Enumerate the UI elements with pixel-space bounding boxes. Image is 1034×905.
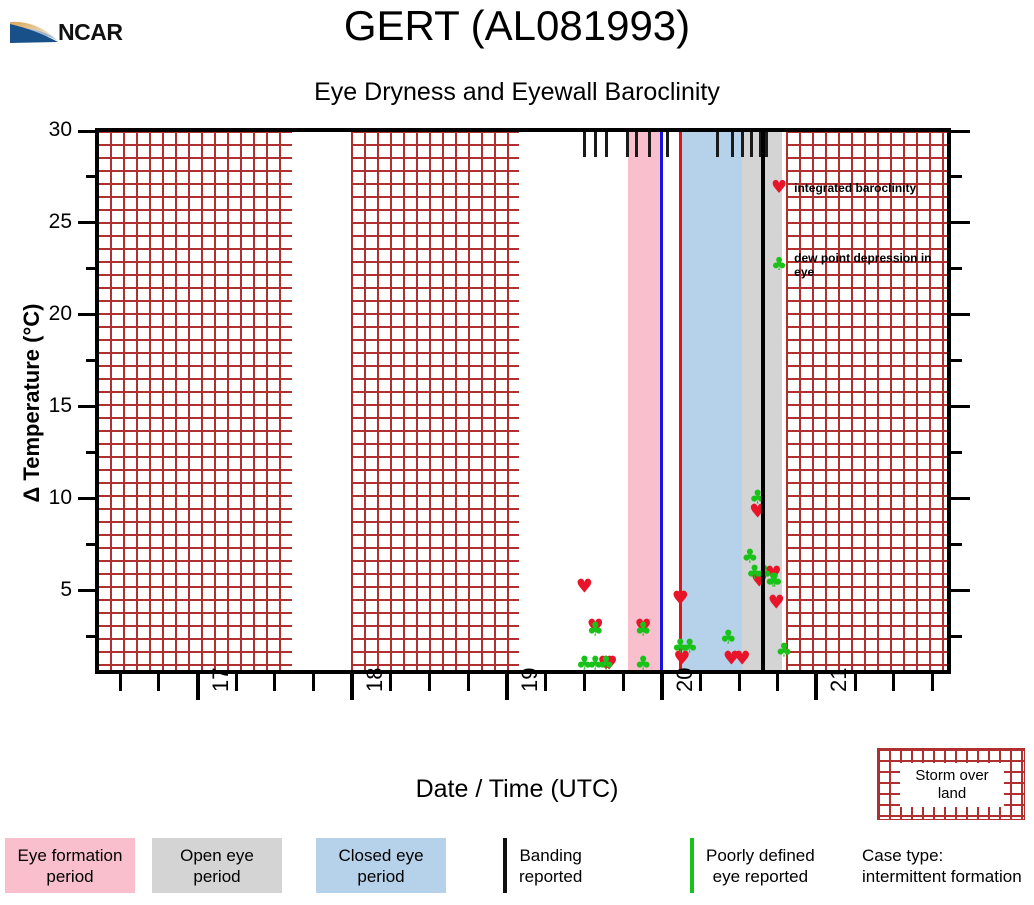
x-tick-label: 17 xyxy=(208,668,234,692)
y-tick-major xyxy=(78,497,97,500)
legend-swatch-line2: period xyxy=(357,866,404,887)
page-subtitle: Eye Dryness and Eyewall Baroclinity xyxy=(0,78,1034,107)
legend-black-line xyxy=(503,838,507,893)
legend-line-label1: Poorly defined xyxy=(706,845,815,866)
y-tick-minor xyxy=(86,451,97,454)
x-tick-minor xyxy=(235,674,238,691)
club-icon: ♣ xyxy=(635,654,652,670)
y-tick-right-major xyxy=(951,497,970,500)
x-tick-label: 21 xyxy=(826,668,852,692)
x-tick-label: 19 xyxy=(517,668,543,692)
x-tick-major xyxy=(505,674,509,700)
x-tick-major xyxy=(196,674,200,700)
y-tick-minor xyxy=(86,175,97,178)
x-tick-minor xyxy=(622,674,625,691)
x-tick-minor xyxy=(467,674,470,691)
case-type-line2: intermittent formation xyxy=(862,866,1022,887)
period-band xyxy=(628,131,662,670)
banding-tick xyxy=(583,131,586,157)
chart-legend: ♥integrated baroclinity♣dew point depres… xyxy=(765,131,948,670)
legend-item: ♣dew point depression in eye xyxy=(771,251,948,279)
y-tick-right-major xyxy=(951,589,970,592)
banding-tick xyxy=(626,131,629,157)
storm-over-land-key: Storm over land xyxy=(877,748,1025,820)
y-tick-major xyxy=(78,589,97,592)
x-tick-minor xyxy=(389,674,392,691)
banding-tick xyxy=(741,131,744,157)
y-tick-minor xyxy=(86,635,97,638)
heart-icon: ♥ xyxy=(576,578,593,597)
x-tick-minor xyxy=(428,674,431,691)
legend-swatch: Open eyeperiod xyxy=(152,838,282,893)
y-tick-right-major xyxy=(951,221,970,224)
legend-swatch-line2: period xyxy=(46,866,93,887)
legend-item-label: integrated baroclinity xyxy=(794,181,916,195)
club-icon: ♣ xyxy=(681,638,698,657)
legend-green-line xyxy=(690,838,694,893)
event-line xyxy=(660,131,663,670)
x-tick-minor xyxy=(931,674,934,691)
x-tick-minor xyxy=(583,674,586,691)
case-type-line1: Case type: xyxy=(862,845,1022,866)
x-tick-minor xyxy=(544,674,547,691)
legend-line-label1: Banding xyxy=(519,845,581,866)
legend-line-label2: eye reported xyxy=(713,866,808,887)
x-tick-label: 18 xyxy=(362,668,388,692)
y-tick-right-major xyxy=(951,313,970,316)
x-tick-minor xyxy=(776,674,779,691)
banding-tick xyxy=(635,131,638,157)
y-axis-title: Δ Temperature (°C) xyxy=(19,123,45,683)
legend-line-label: Poorly definedeye reported xyxy=(706,838,815,893)
legend-line-label2: reported xyxy=(519,866,582,887)
x-tick-minor xyxy=(273,674,276,691)
x-tick-major xyxy=(814,674,818,700)
y-tick-right-minor xyxy=(951,635,962,638)
bottom-legend: Eye formationperiodOpen eyeperiodClosed … xyxy=(0,838,1034,898)
banding-tick xyxy=(716,131,719,157)
legend-swatch: Closed eyeperiod xyxy=(316,838,446,893)
x-tick-minor xyxy=(119,674,122,691)
case-type-label: Case type:intermittent formation xyxy=(862,838,1022,893)
storm-over-land-region xyxy=(97,131,292,670)
y-tick-right-minor xyxy=(951,543,962,546)
storm-over-land-region xyxy=(351,131,520,670)
legend-line-label: Bandingreported xyxy=(519,838,582,893)
y-tick-major xyxy=(78,405,97,408)
legend-swatch-line2: period xyxy=(193,866,240,887)
legend-swatch-line1: Eye formation xyxy=(18,845,123,866)
y-tick-minor xyxy=(86,359,97,362)
x-tick-minor xyxy=(699,674,702,691)
period-band xyxy=(680,131,742,670)
x-tick-minor xyxy=(854,674,857,691)
heart-icon: ♥ xyxy=(672,590,689,609)
x-tick-label: 20 xyxy=(672,668,698,692)
heart-icon: ♥ xyxy=(734,649,751,668)
banding-tick xyxy=(648,131,651,157)
y-tick-right-minor xyxy=(951,267,962,270)
x-tick-major xyxy=(350,674,354,700)
storm-over-land-key-label: Storm over land xyxy=(900,763,1004,807)
y-tick-minor xyxy=(86,267,97,270)
y-tick-major xyxy=(78,130,97,133)
legend-item-label: dew point depression in eye xyxy=(794,251,948,279)
page-title: GERT (AL081993) xyxy=(0,2,1034,50)
y-tick-right-major xyxy=(951,130,970,133)
club-icon: ♣ xyxy=(635,621,652,640)
y-tick-right-minor xyxy=(951,451,962,454)
banding-tick xyxy=(594,131,597,157)
y-tick-right-major xyxy=(951,405,970,408)
club-icon: ♣ xyxy=(598,654,615,670)
y-tick-minor xyxy=(86,543,97,546)
x-tick-minor xyxy=(157,674,160,691)
club-icon: ♣ xyxy=(587,621,604,640)
legend-swatch: Eye formationperiod xyxy=(5,838,135,893)
banding-tick xyxy=(666,131,669,157)
banding-tick xyxy=(605,131,608,157)
legend-swatch-line1: Open eye xyxy=(180,845,254,866)
legend-swatch-line1: Closed eye xyxy=(338,845,423,866)
club-icon: ♣ xyxy=(720,628,737,647)
sol-line2: land xyxy=(938,785,966,802)
x-tick-minor xyxy=(312,674,315,691)
banding-tick xyxy=(750,131,753,157)
y-tick-major xyxy=(78,313,97,316)
banding-tick xyxy=(731,131,734,157)
y-tick-right-minor xyxy=(951,359,962,362)
x-tick-minor xyxy=(738,674,741,691)
club-icon: ♣ xyxy=(771,256,787,274)
x-tick-major xyxy=(660,674,664,700)
y-tick-major xyxy=(78,221,97,224)
x-tick-minor xyxy=(892,674,895,691)
sol-line1: Storm over xyxy=(915,767,988,784)
y-tick-right-minor xyxy=(951,175,962,178)
legend-item: ♥integrated baroclinity xyxy=(771,179,916,197)
heart-icon: ♥ xyxy=(771,179,787,197)
